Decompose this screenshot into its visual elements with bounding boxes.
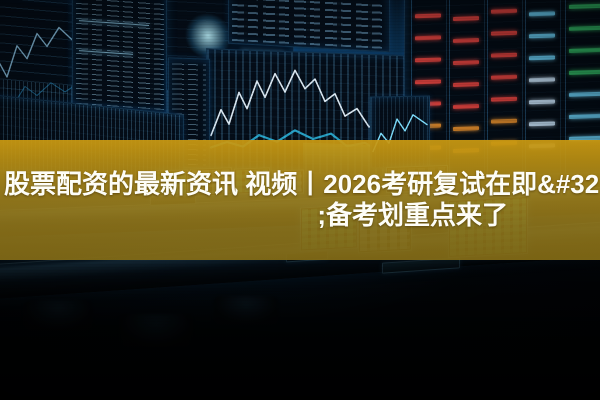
title-line-1: 股票配资的最新资讯 视频丨2026考研复试在即&#32	[0, 169, 600, 200]
title-overlay-band: 股票配资的最新资讯 视频丨2026考研复试在即&#32 ;备考划重点来了	[0, 140, 600, 260]
title-line-2: ;备考划重点来了	[0, 200, 600, 231]
thumbnail-image: 股票配资的最新资讯 视频丨2026考研复试在即&#32 ;备考划重点来了	[0, 0, 600, 400]
